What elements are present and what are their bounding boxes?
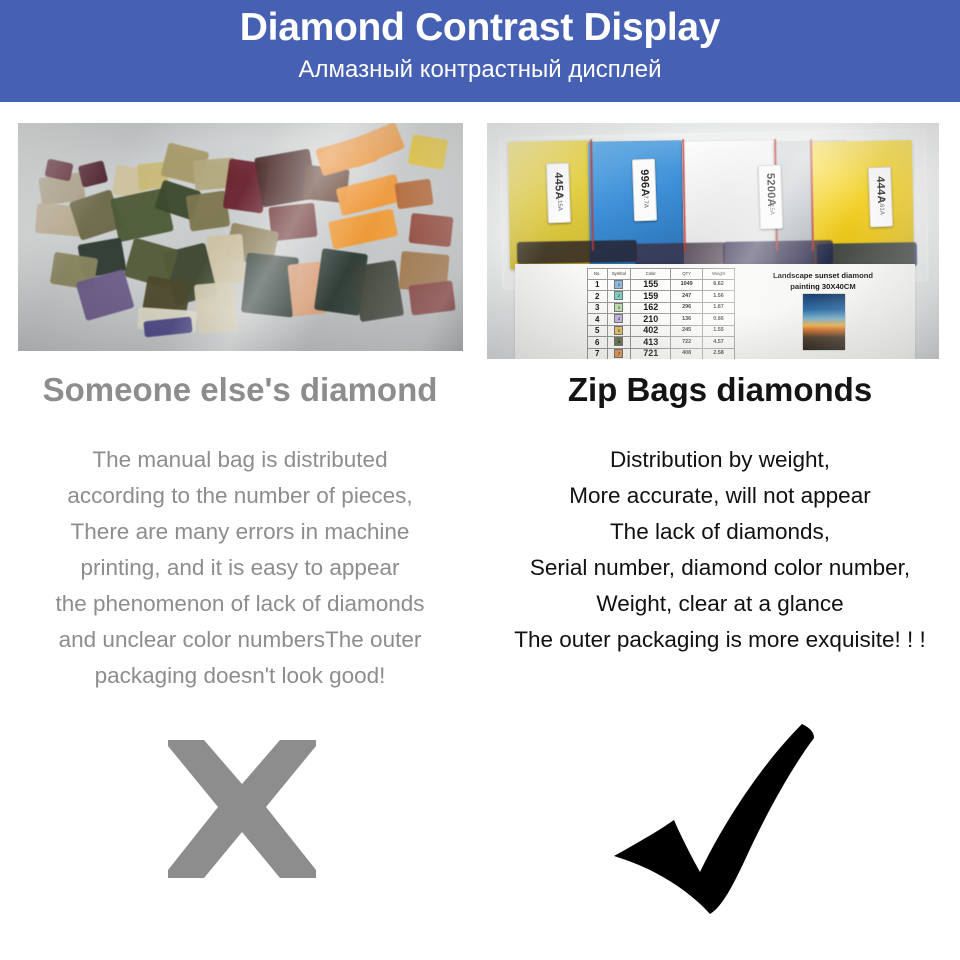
page-subtitle-russian: Алмазный контрастный дисплей (299, 54, 662, 86)
cross-mark-icon (168, 740, 316, 878)
right-desc-line: Distribution by weight, (480, 442, 960, 478)
right-desc-line: The outer packaging is more exquisite! !… (480, 622, 960, 658)
col-header-no: No. (588, 269, 608, 280)
col-header-weight: Weight (703, 269, 735, 280)
left-verdict-area (0, 722, 480, 942)
bead-packet (408, 134, 449, 170)
col-header-qty: QTY (671, 269, 703, 280)
left-desc-line: packaging doesn't look good! (0, 658, 480, 694)
bead-packet (352, 260, 404, 322)
left-desc-line: printing, and it is easy to appear (0, 550, 480, 586)
table-row: 4 4 210 136 0.86 (588, 314, 735, 326)
bead-packet (409, 213, 454, 247)
zip-bag-label: 996A 17.7A (632, 159, 657, 222)
loose-bags-photo (18, 123, 463, 351)
right-desc-line: The lack of diamonds, (480, 514, 960, 550)
symbol-swatch: 1 (614, 280, 623, 289)
bead-overflow (517, 240, 637, 264)
left-panel-description: The manual bag is distributed according … (0, 442, 480, 694)
right-verdict-area (480, 722, 960, 942)
right-comparison-panel: 445A 5.15A 996A 17.7A 5200A 3.15A 444A 8… (480, 102, 960, 960)
table-row: 6 6 413 722 4.57 (588, 337, 735, 349)
zip-bag-label: 5200A 3.15A (758, 165, 783, 230)
bead-packet (194, 281, 238, 334)
right-panel-heading: Zip Bags diamonds (480, 370, 960, 410)
left-panel-heading: Someone else's diamond (0, 370, 480, 410)
right-desc-line: Serial number, diamond color number, (480, 550, 960, 586)
symbol-swatch: 6 (614, 337, 623, 346)
table-row: 5 5 402 245 1.55 (588, 325, 735, 337)
zip-bag-label-sub: 5.15A (556, 195, 563, 211)
zip-bag-label-sub: 17.7A (642, 192, 649, 208)
color-chart-table: No. Symbol Color QTY Weight 1 1 155 1049 (587, 268, 735, 359)
col-header-symbol: Symbol (607, 269, 631, 280)
symbol-swatch: 5 (614, 326, 623, 335)
table-row: 7 7 721 408 2.58 (588, 348, 735, 359)
kit-caption: Landscape sunset diamond painting 30X40C… (743, 270, 903, 292)
kit-caption-line1: Landscape sunset diamond (743, 270, 903, 281)
comparison-columns: Someone else's diamond The manual bag is… (0, 102, 960, 960)
kit-artwork-thumbnail (803, 294, 845, 350)
kit-caption-line2: painting 30X40CM (743, 281, 903, 292)
right-desc-line: More accurate, will not appear (480, 478, 960, 514)
symbol-swatch: 7 (614, 349, 623, 358)
left-desc-line: There are many errors in machine (0, 514, 480, 550)
page-title: Diamond Contrast Display (240, 4, 720, 52)
zip-bag-label: 445A 5.15A (546, 163, 571, 224)
left-comparison-panel: Someone else's diamond The manual bag is… (0, 102, 480, 960)
zip-bag-label-sub: 8.61A (878, 199, 885, 215)
zip-bags-photo: 445A 5.15A 996A 17.7A 5200A 3.15A 444A 8… (487, 123, 939, 359)
bead-overflow (635, 242, 725, 266)
table-row: 1 1 155 1049 6.62 (588, 279, 735, 291)
table-row: 2 2 159 247 1.56 (588, 291, 735, 303)
col-header-color: Color (631, 269, 671, 280)
left-desc-line: according to the number of pieces, (0, 478, 480, 514)
table-header-row: No. Symbol Color QTY Weight (588, 269, 735, 280)
bead-packet (394, 179, 433, 210)
symbol-swatch: 3 (614, 303, 623, 312)
bead-packet (408, 280, 455, 315)
table-row: 3 3 162 296 1.87 (588, 302, 735, 314)
right-panel-description: Distribution by weight, More accurate, w… (480, 442, 960, 658)
symbol-swatch: 2 (614, 291, 623, 300)
symbol-swatch: 4 (614, 314, 623, 323)
check-mark-icon (614, 722, 814, 914)
left-desc-line: the phenomenon of lack of diamonds (0, 586, 480, 622)
right-desc-line: Weight, clear at a glance (480, 586, 960, 622)
color-chart-card: No. Symbol Color QTY Weight 1 1 155 1049 (515, 264, 915, 359)
zip-bag-label-sub: 3.15A (768, 199, 775, 215)
page-header-banner: Diamond Contrast Display Алмазный контра… (0, 0, 960, 102)
zip-bag-label: 444A 8.61A (868, 167, 893, 228)
left-desc-line: The manual bag is distributed (0, 442, 480, 478)
left-desc-line: and unclear color numbersThe outer (0, 622, 480, 658)
